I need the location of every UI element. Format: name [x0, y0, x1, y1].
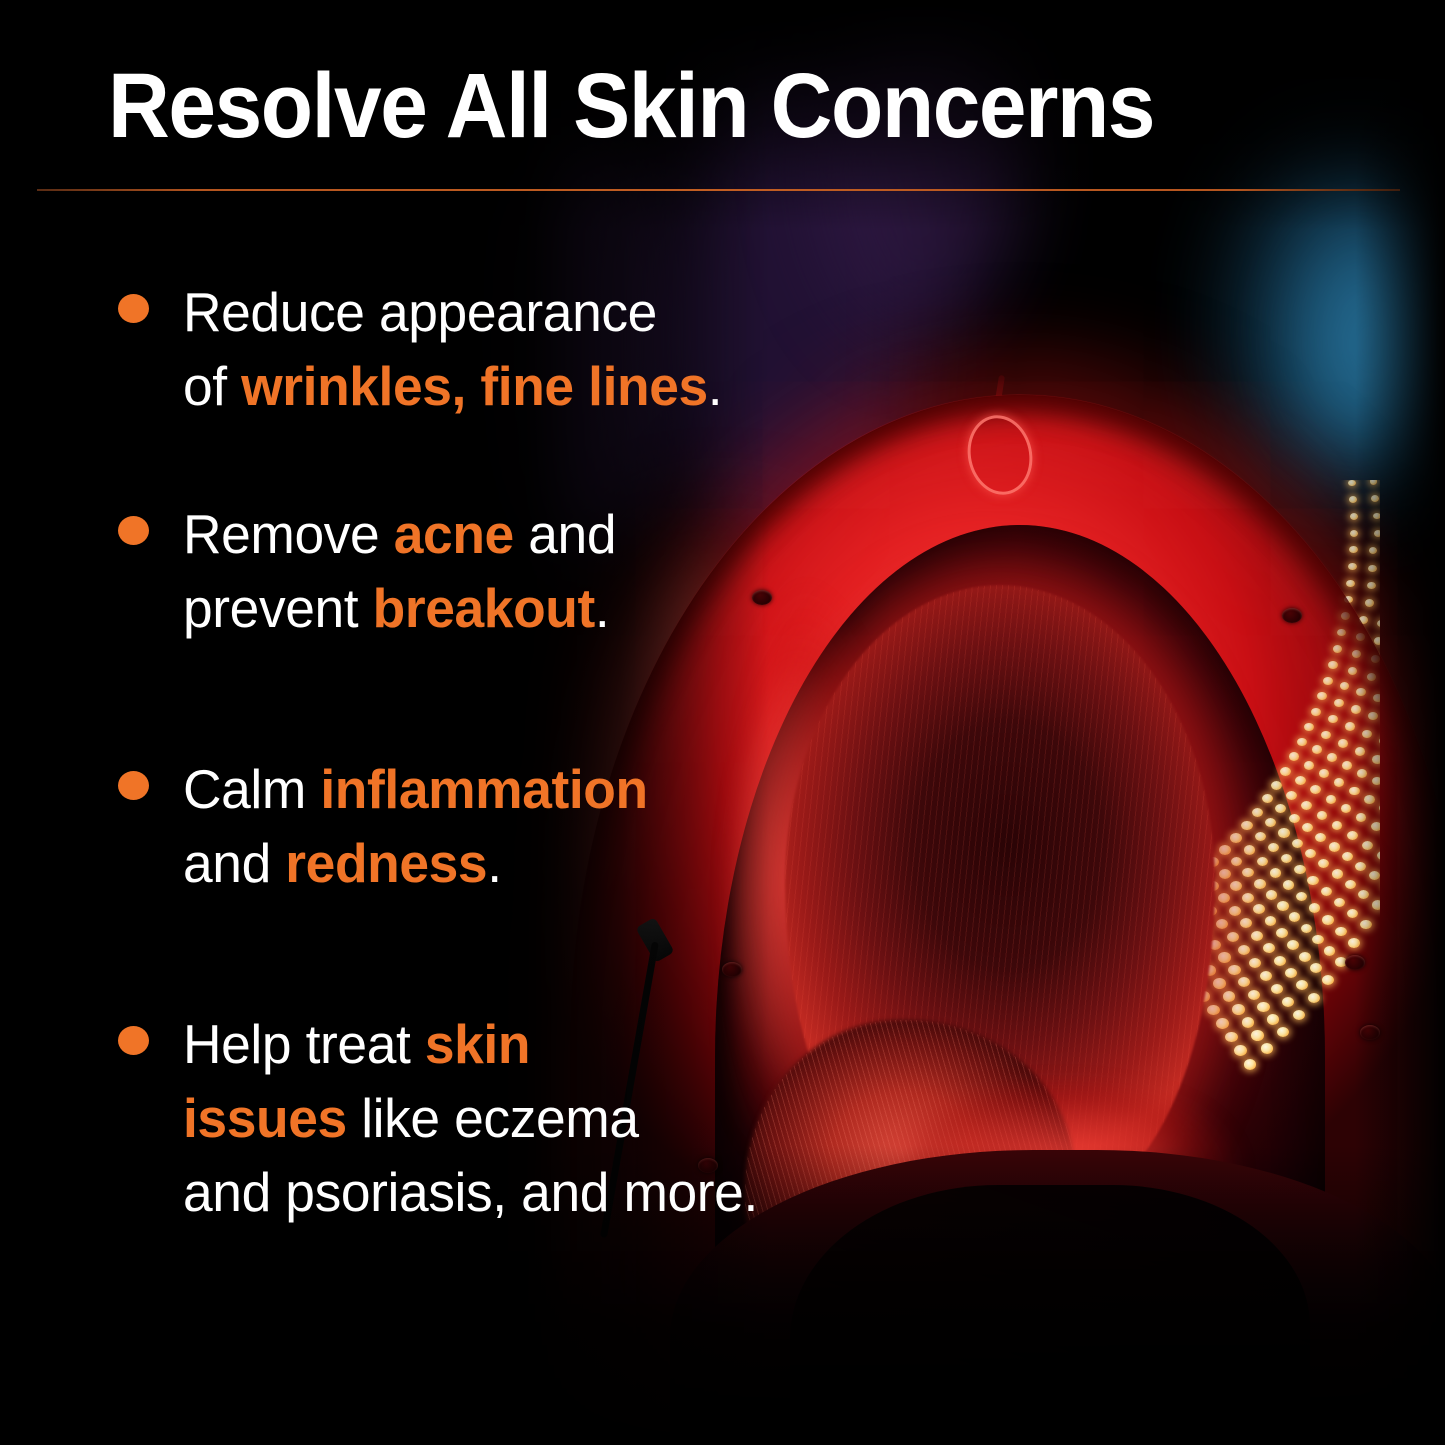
plain-text: and psoriasis, and more. — [183, 1161, 758, 1223]
highlighted-keyword: redness — [285, 832, 487, 894]
list-item-text: Calm inflammationand redness. — [183, 752, 862, 900]
list-item-line: Reduce appearance — [183, 275, 862, 349]
bullet-dot-icon — [118, 1026, 149, 1055]
list-item-line: and psoriasis, and more. — [183, 1155, 862, 1229]
list-item-text: Reduce appearanceof wrinkles, fine lines… — [183, 275, 862, 423]
page-title: Resolve All Skin Concerns — [108, 60, 1154, 152]
list-item-line: prevent breakout. — [183, 571, 862, 645]
title-divider — [37, 189, 1400, 191]
plain-text: and — [514, 503, 616, 565]
bullet-dot-icon — [118, 771, 149, 800]
content-overlay: Resolve All Skin Concerns Reduce appeara… — [0, 0, 1445, 1445]
highlighted-keyword: wrinkles, fine lines — [241, 355, 708, 417]
highlighted-keyword: breakout — [373, 577, 595, 639]
bullet-dot-icon — [118, 516, 149, 545]
plain-text: of — [183, 355, 241, 417]
list-item-line: Remove acne and — [183, 497, 862, 571]
list-item-text: Help treat skinissues like eczemaand pso… — [183, 1007, 862, 1229]
highlighted-keyword: inflammation — [320, 758, 647, 820]
plain-text: . — [487, 832, 501, 894]
list-item-line: Calm inflammation — [183, 752, 862, 826]
plain-text: prevent — [183, 577, 373, 639]
plain-text: Remove — [183, 503, 394, 565]
plain-text: Reduce appearance — [183, 281, 657, 343]
plain-text: like eczema — [347, 1087, 639, 1149]
bullet-dot-icon — [118, 294, 149, 323]
list-item-line: issues like eczema — [183, 1081, 862, 1155]
list-item-text: Remove acne andprevent breakout. — [183, 497, 862, 645]
plain-text: . — [708, 355, 722, 417]
plain-text: . — [595, 577, 609, 639]
highlighted-keyword: acne — [394, 503, 514, 565]
plain-text: Calm — [183, 758, 320, 820]
list-item-line: of wrinkles, fine lines. — [183, 349, 862, 423]
highlighted-keyword: skin — [425, 1013, 530, 1075]
plain-text: Help treat — [183, 1013, 425, 1075]
list-item-line: and redness. — [183, 826, 862, 900]
list-item-line: Help treat skin — [183, 1007, 862, 1081]
plain-text: and — [183, 832, 285, 894]
highlighted-keyword: issues — [183, 1087, 347, 1149]
